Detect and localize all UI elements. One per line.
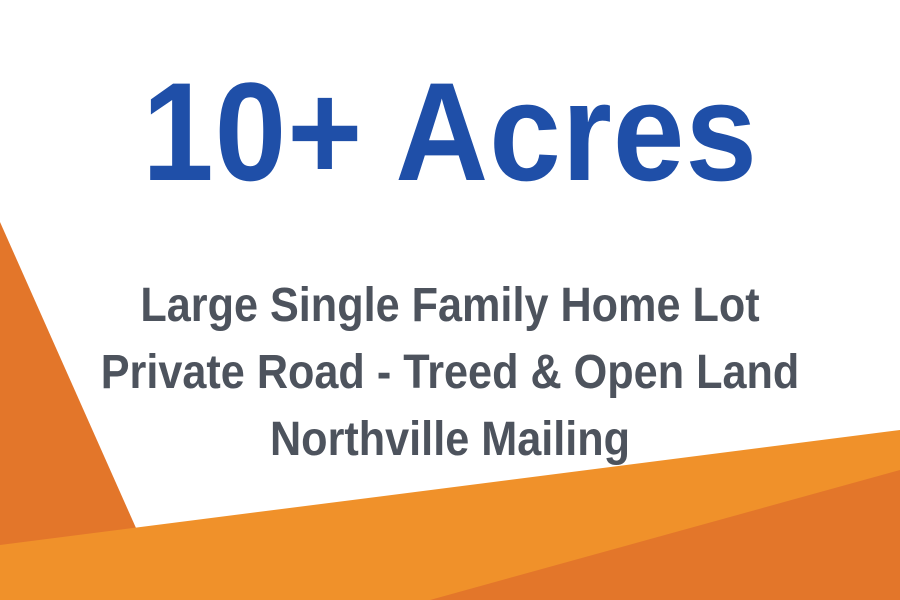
poster-content: 10+ Acres Large Single Family Home Lot P…	[0, 0, 900, 600]
page-title: 10+ Acres	[36, 62, 864, 202]
property-listing-poster: 10+ Acres Large Single Family Home Lot P…	[0, 0, 900, 600]
subtitle-block: Large Single Family Home Lot Private Roa…	[0, 272, 900, 473]
subtitle-line-3: Northville Mailing	[45, 406, 855, 473]
subtitle-line-1: Large Single Family Home Lot	[45, 272, 855, 339]
subtitle-line-2: Private Road - Treed & Open Land	[45, 339, 855, 406]
